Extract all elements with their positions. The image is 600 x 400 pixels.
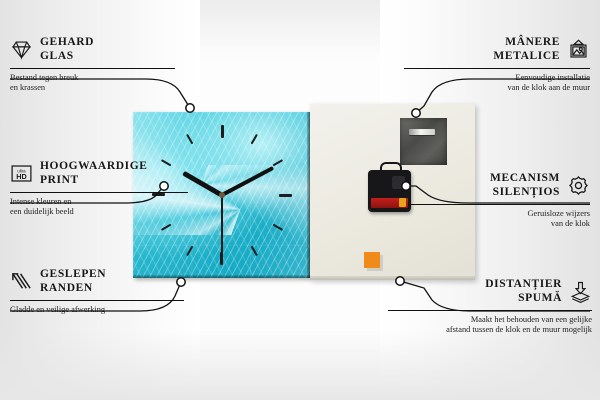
- feature-rule: [10, 192, 188, 193]
- metal-hanger-plate: [400, 118, 447, 165]
- foam-spacer-block: [364, 252, 380, 268]
- ultra-hd-icon: ultra HD: [10, 162, 33, 185]
- feature-rule: [10, 68, 175, 69]
- feature-title: HOOGWAARDIGE PRINT: [40, 160, 148, 187]
- clock-hand-hub: [219, 192, 225, 198]
- feature-header: ultra HD HOOGWAARDIGE PRINT: [10, 160, 200, 187]
- diamond-icon: [10, 38, 33, 61]
- infographic-canvas: GEHARD GLAS Bestand tegen breuk en krass…: [0, 0, 600, 400]
- feature-header: MECANISM SILENȚIOS: [400, 172, 590, 199]
- feature-description: Bestand tegen breuk en krassen: [10, 73, 185, 94]
- background-vignette-bottom: [0, 330, 600, 400]
- mechanism-hanger-loop: [380, 162, 402, 174]
- feature-polished-edges: GESLEPEN RANDEN Gladde en veilige afwerk…: [10, 268, 195, 315]
- feature-description: Geruisloze wijzers van de klok: [400, 209, 590, 230]
- layers-down-arrow-icon: [569, 280, 592, 303]
- feature-high-quality-print: ultra HD HOOGWAARDIGE PRINT Intense kleu…: [10, 160, 200, 218]
- feature-title: MECANISM SILENȚIOS: [490, 172, 560, 199]
- feature-rule: [404, 68, 590, 69]
- framed-picture-icon: [567, 38, 590, 61]
- hanger-slot: [409, 129, 435, 135]
- clock-tick-0: [221, 125, 223, 195]
- feature-description: Eenvoudige installatie van de klok aan d…: [395, 73, 590, 94]
- bevelled-edges-icon: [10, 270, 33, 293]
- feature-metal-handles: MÂNERE METALICE Eenvoudige installatie v…: [395, 36, 590, 94]
- feature-description: Maakt het behouden van een gelijke afsta…: [380, 315, 592, 336]
- feature-description: Intense kleuren en een duidelijk beeld: [10, 197, 200, 218]
- feature-title: DISTANȚIER SPUMĂ: [485, 278, 562, 305]
- clock-second-hand: [221, 195, 223, 257]
- feature-header: MÂNERE METALICE: [395, 36, 590, 63]
- feature-title: GEHARD GLAS: [40, 36, 94, 63]
- feature-rule: [388, 310, 592, 311]
- feature-rule: [10, 300, 184, 301]
- feature-title: MÂNERE METALICE: [493, 36, 560, 63]
- feature-description: Gladde en veilige afwerking: [10, 305, 195, 315]
- clock-tick-3: [222, 194, 292, 196]
- feature-rule: [408, 204, 590, 205]
- feature-silent-mechanism: MECANISM SILENȚIOS Geruisloze wijzers va…: [400, 172, 590, 230]
- feature-header: GEHARD GLAS: [10, 36, 185, 63]
- feature-header: GESLEPEN RANDEN: [10, 268, 195, 295]
- feature-tempered-glass: GEHARD GLAS Bestand tegen breuk en krass…: [10, 36, 185, 94]
- gear-icon: [567, 174, 590, 197]
- feature-foam-spacer: DISTANȚIER SPUMĂ Maakt het behouden van …: [380, 278, 592, 336]
- svg-text:HD: HD: [16, 172, 27, 181]
- feature-title: GESLEPEN RANDEN: [40, 268, 106, 295]
- feature-header: DISTANȚIER SPUMĂ: [380, 278, 592, 305]
